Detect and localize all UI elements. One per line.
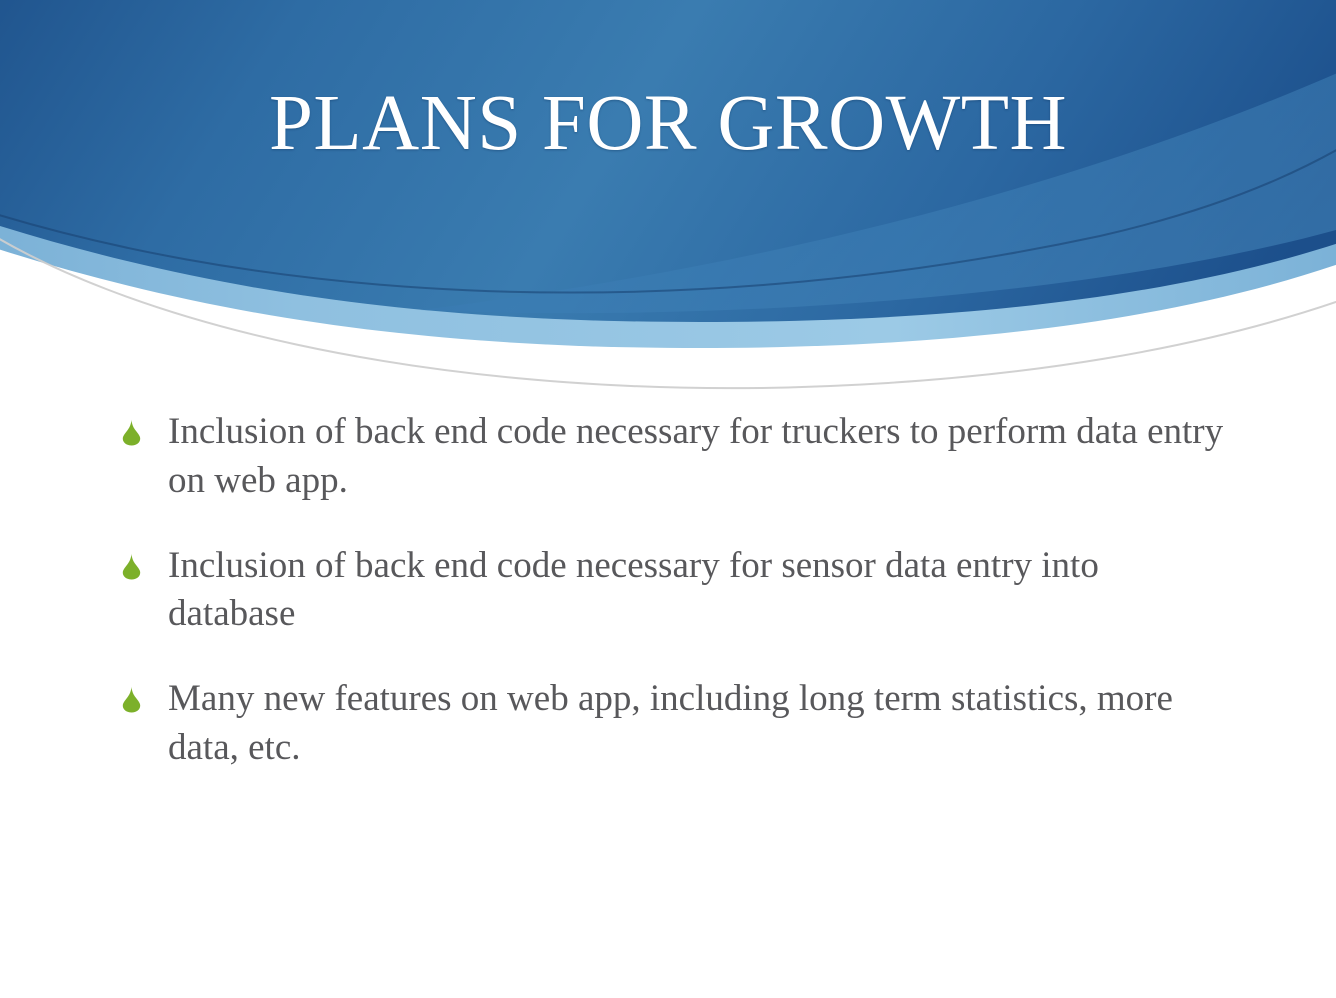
slide-title: PLANS FOR GROWTH bbox=[0, 84, 1336, 163]
green-droplet-bullet-icon bbox=[122, 553, 141, 580]
green-droplet-bullet-icon bbox=[122, 686, 141, 713]
list-item: Many new features on web app, including … bbox=[118, 675, 1228, 773]
list-item: Inclusion of back end code necessary for… bbox=[118, 408, 1228, 506]
list-item-text: Inclusion of back end code necessary for… bbox=[168, 542, 1228, 640]
bullet-list: Inclusion of back end code necessary for… bbox=[118, 408, 1228, 773]
presentation-slide: PLANS FOR GROWTH Inclusion of back end c… bbox=[0, 0, 1336, 998]
list-item: Inclusion of back end code necessary for… bbox=[118, 542, 1228, 640]
green-droplet-bullet-icon bbox=[122, 419, 141, 446]
list-item-text: Inclusion of back end code necessary for… bbox=[168, 408, 1228, 506]
list-item-text: Many new features on web app, including … bbox=[168, 675, 1228, 773]
header-banner-decoration bbox=[0, 0, 1336, 400]
